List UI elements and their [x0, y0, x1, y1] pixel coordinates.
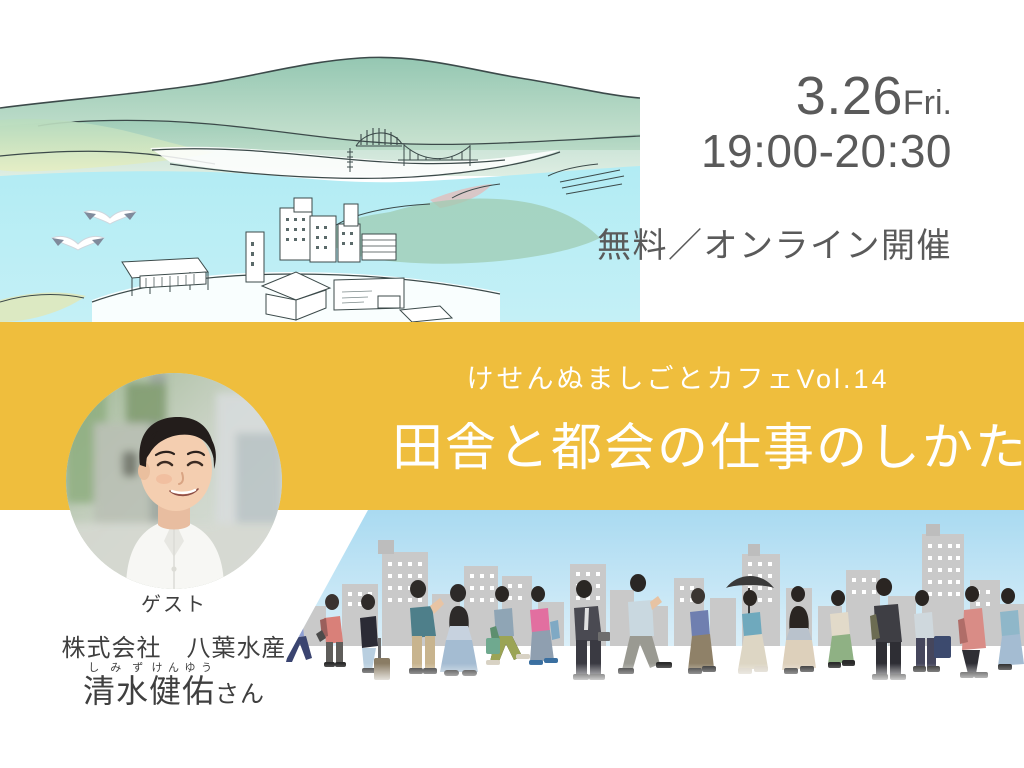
event-date: 3.26	[796, 66, 903, 126]
guest-company: 株式会社 八葉水産	[36, 628, 312, 663]
event-title: 田舎と都会の仕事のしかた	[392, 406, 962, 480]
guest-name-kanji-2: 健佑	[149, 673, 215, 709]
bay-landscape-illustration	[0, 0, 640, 330]
guest-tag: ゲスト	[66, 588, 282, 617]
guest-name-ruby-2: けんゆう	[149, 662, 215, 674]
guest-tag-label: ゲスト	[136, 588, 212, 617]
guest-name-part-2: 健佑けんゆう	[149, 673, 215, 709]
city-crowd-illustration	[286, 510, 1024, 685]
guest-name-part-1: 清水しみず	[83, 673, 149, 709]
event-time: 19:00-20:30	[701, 124, 952, 178]
guest-name: 清水しみず健佑けんゆうさん	[36, 662, 312, 712]
event-weekday: Fri.	[903, 84, 952, 122]
poster-root: 3.26Fri. 19:00-20:30 無料／オンライン開催 けせんぬましごと…	[0, 0, 1024, 768]
event-date-line: 3.26Fri.	[701, 68, 952, 124]
guest-avatar	[66, 373, 282, 589]
event-datetime: 3.26Fri. 19:00-20:30	[701, 68, 952, 178]
guest-honorific: さん	[215, 681, 265, 708]
guest-name-kanji-1: 清水	[83, 673, 149, 709]
event-series-label: けせんぬましごとカフェVol.14	[398, 357, 958, 396]
guest-name-ruby-1: しみず	[83, 662, 149, 674]
event-admission: 無料／オンライン開催	[597, 218, 952, 267]
